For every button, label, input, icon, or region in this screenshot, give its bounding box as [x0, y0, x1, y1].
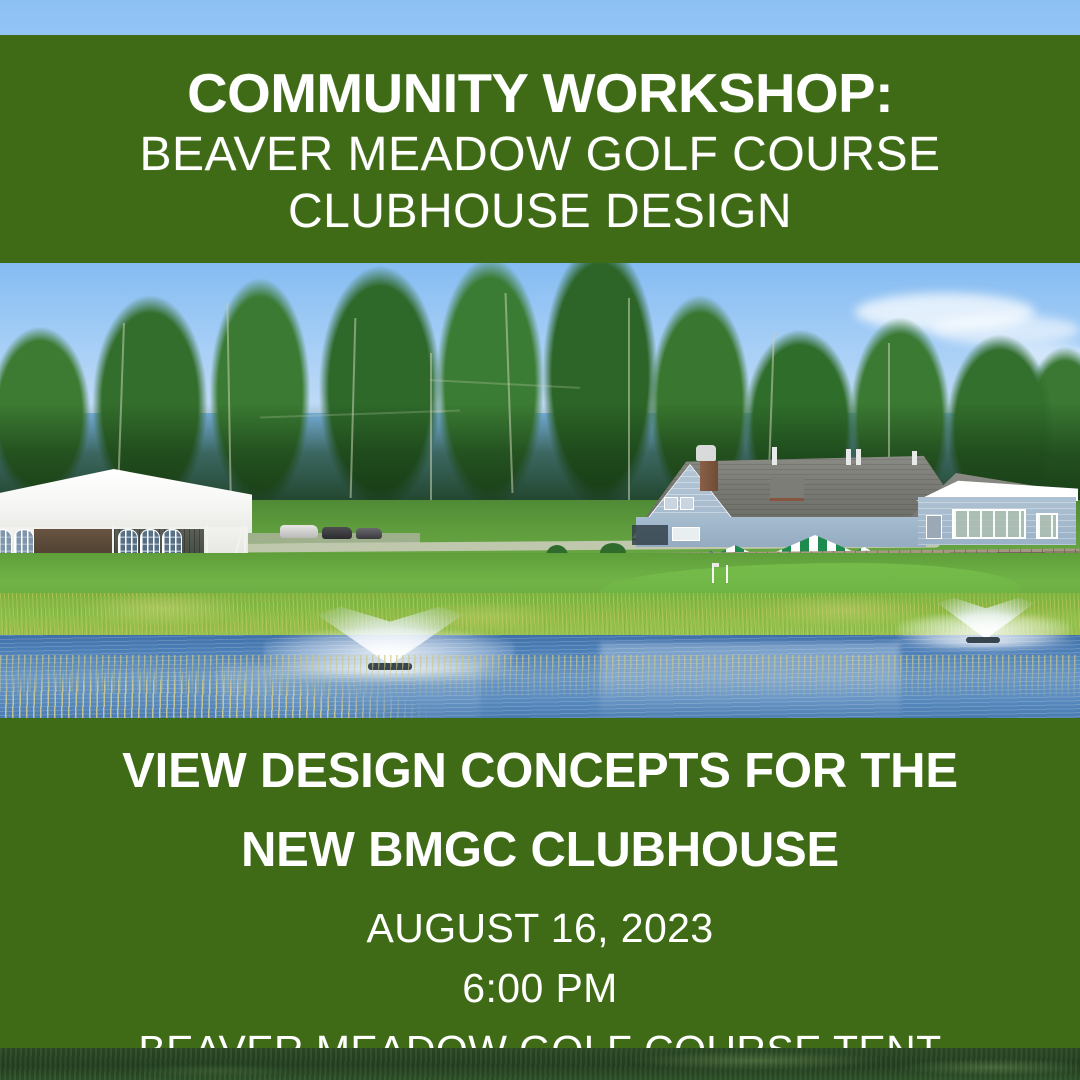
footer-band: VIEW DESIGN CONCEPTS FOR THE NEW BMGC CL…	[0, 718, 1080, 1048]
poster: COMMUNITY WORKSHOP: BEAVER MEADOW GOLF C…	[0, 0, 1080, 1080]
course-photo	[0, 263, 1080, 718]
event-time: 6:00 PM	[462, 967, 618, 1010]
gable-window	[680, 497, 694, 510]
parked-car	[356, 528, 382, 539]
parked-car	[280, 525, 318, 538]
event-headline: VIEW DESIGN CONCEPTS FOR THE	[122, 746, 958, 797]
flagstick	[726, 565, 728, 583]
page-subtitle: BEAVER MEADOW GOLF COURSE	[139, 130, 940, 181]
event-date: AUGUST 16, 2023	[366, 907, 713, 950]
top-sky-strip	[0, 0, 1080, 35]
clubhouse-window-wall	[952, 509, 1026, 539]
header-band: COMMUNITY WORKSHOP: BEAVER MEADOW GOLF C…	[0, 35, 1080, 263]
fountain-nozzle	[966, 637, 1000, 643]
roof-dormer	[770, 477, 804, 501]
utility-pole	[430, 353, 432, 503]
foreground-reeds	[0, 655, 520, 718]
lower-entry	[632, 525, 668, 545]
clubhouse-sign	[672, 527, 700, 541]
footer-text-group: VIEW DESIGN CONCEPTS FOR THE NEW BMGC CL…	[0, 718, 1080, 1048]
roof-finial	[912, 451, 917, 465]
header-text-group: COMMUNITY WORKSHOP: BEAVER MEADOW GOLF C…	[0, 35, 1080, 263]
clubhouse-door	[926, 515, 942, 539]
event-headline-2: NEW BMGC CLUBHOUSE	[241, 825, 839, 876]
chimney	[700, 461, 718, 491]
roof-finial	[846, 449, 851, 465]
flag	[713, 563, 719, 567]
roof-finial	[772, 447, 777, 465]
page-subtitle-2: CLUBHOUSE DESIGN	[288, 187, 792, 238]
tent-roof	[0, 469, 252, 533]
bottom-grass-strip	[0, 1048, 1080, 1080]
roof-finial	[856, 449, 861, 465]
parked-car	[322, 527, 352, 539]
clubhouse-window	[1036, 513, 1058, 539]
page-title: COMMUNITY WORKSHOP:	[187, 64, 893, 122]
gable-window	[664, 497, 678, 510]
roof-vent	[696, 445, 716, 461]
